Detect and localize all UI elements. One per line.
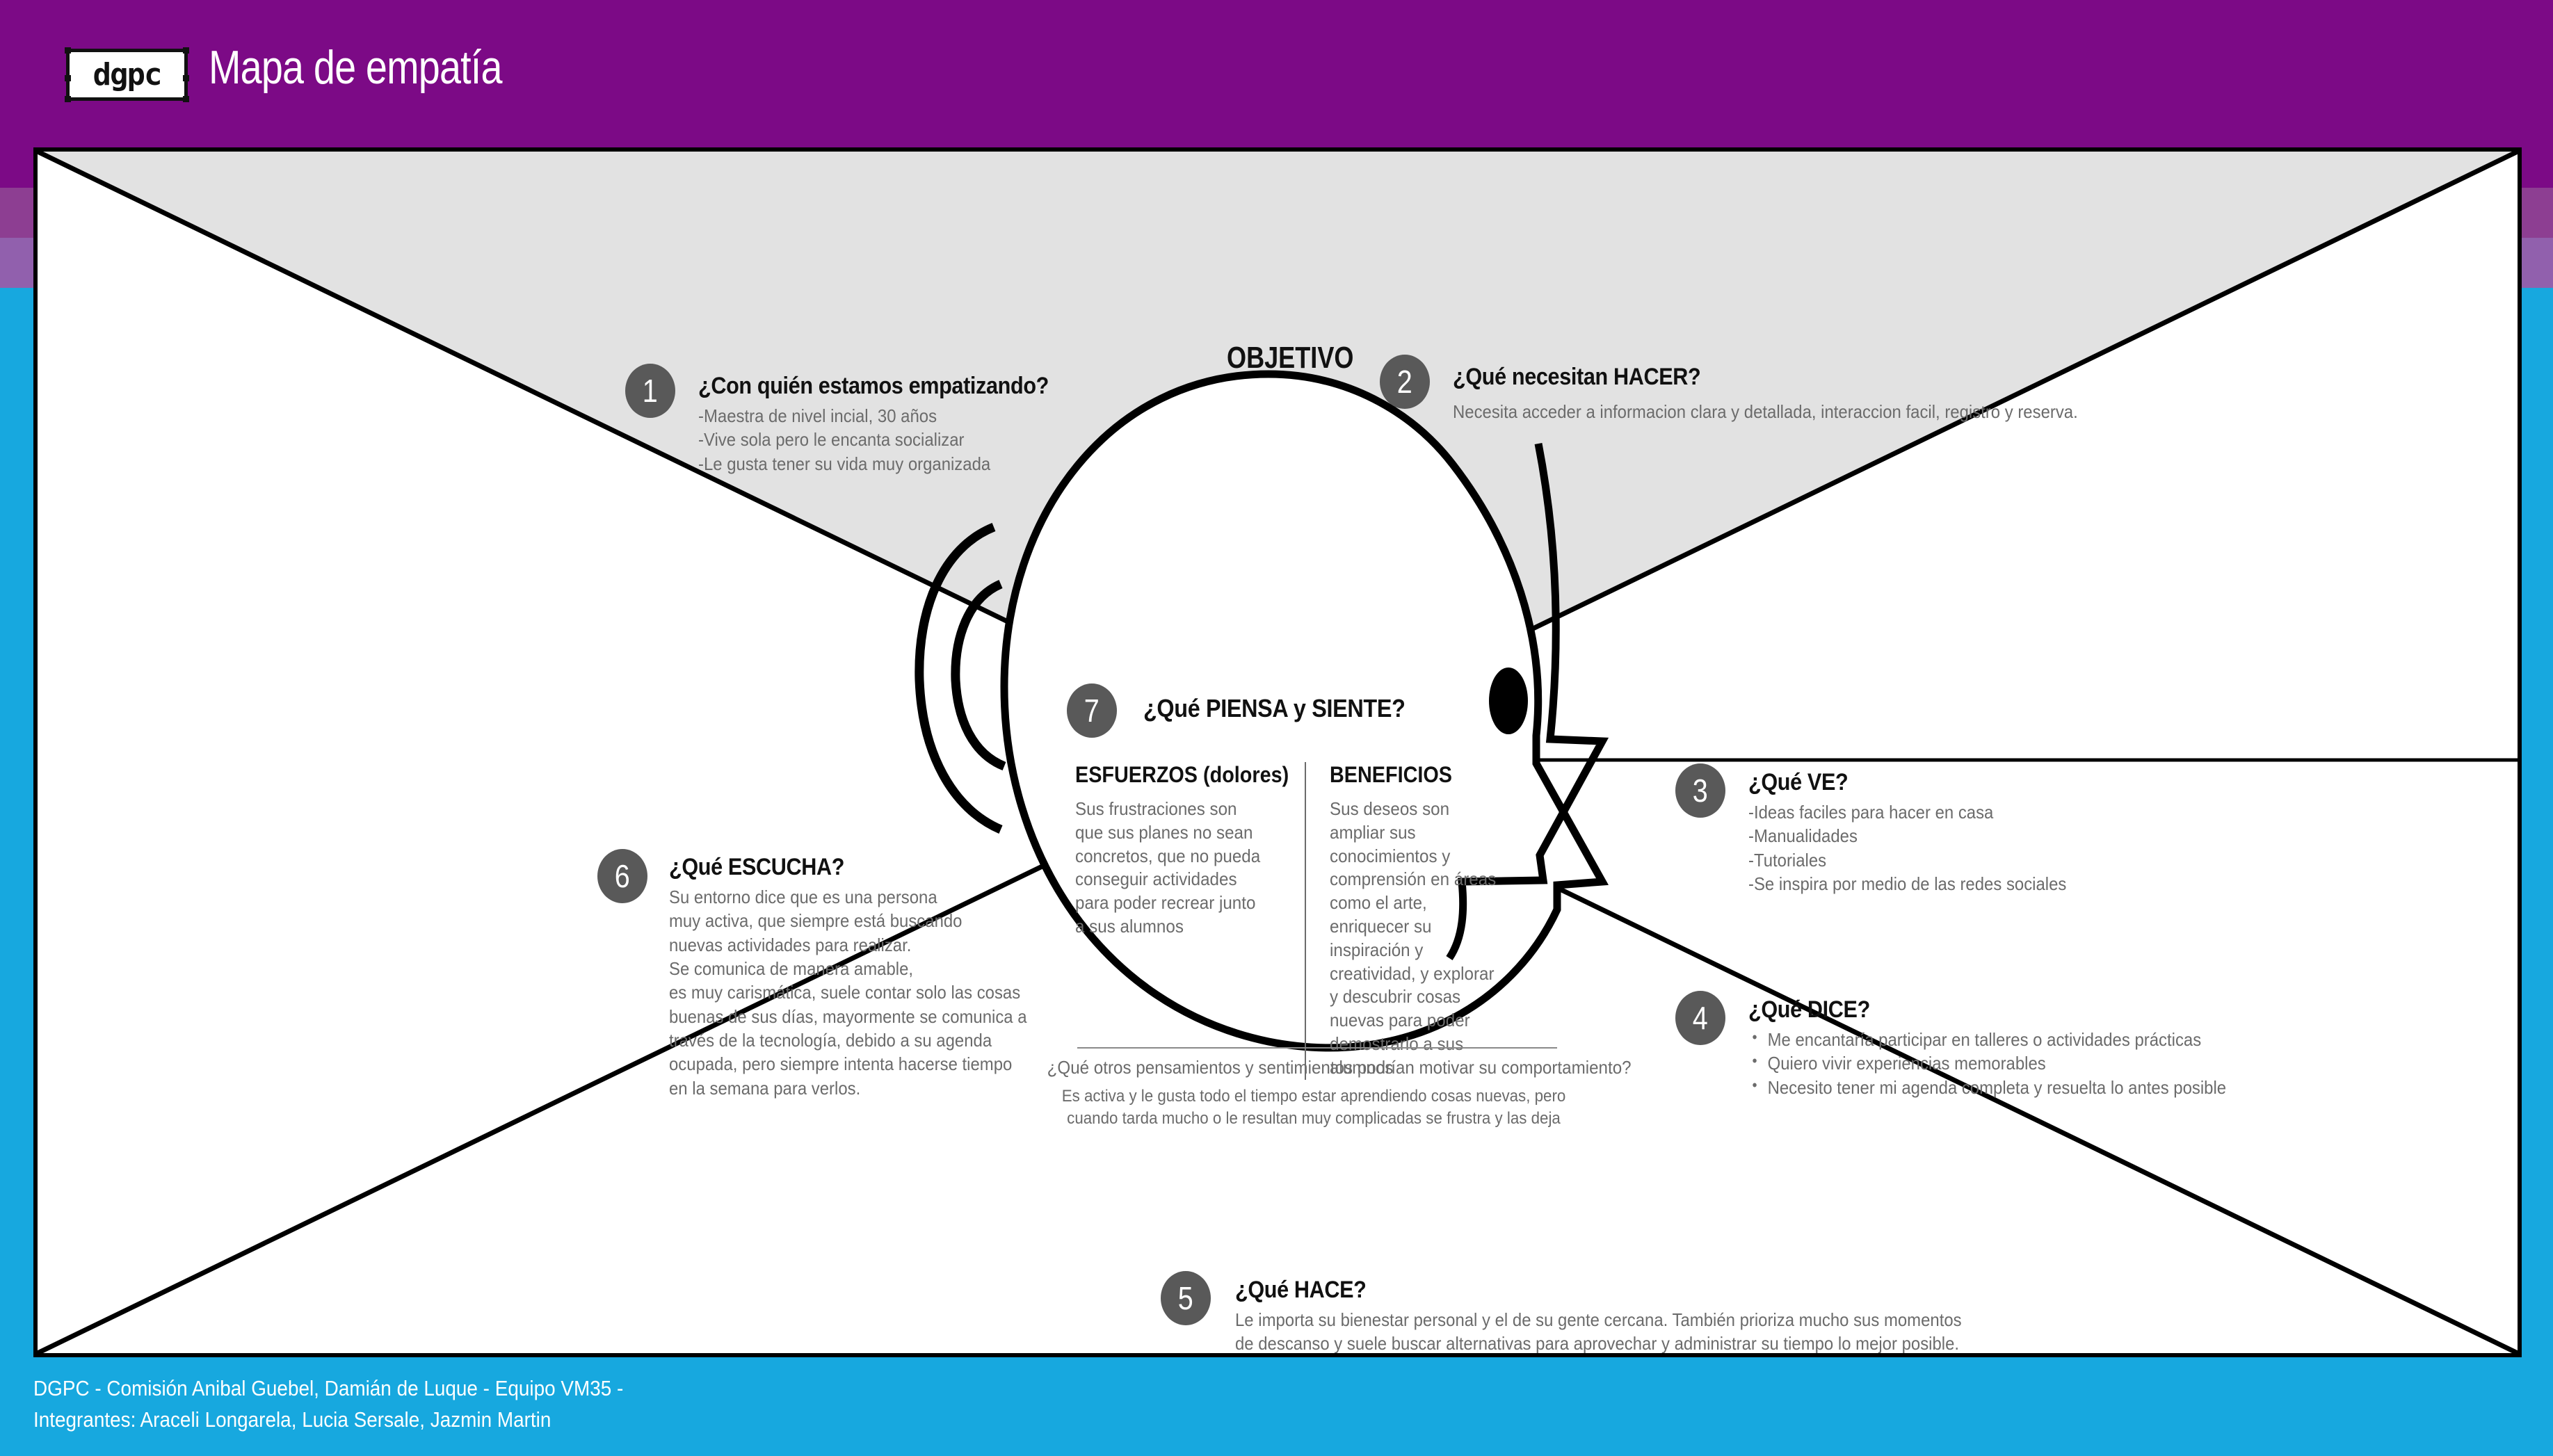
question-6-bubble: 6	[597, 849, 647, 903]
question-2-block: ¿Qué necesitan HACER? Necesita acceder a…	[1453, 364, 2426, 424]
list-item: -Le gusta tener su vida muy organizada	[698, 452, 1184, 476]
question-3-list: -Ideas faciles para hacer en casa -Manua…	[1748, 800, 2374, 896]
question-7-title: ¿Qué PIENSA y SIENTE?	[1143, 694, 1581, 723]
empathy-map-canvas: OBJETIVO 1 ¿Con quién estamos empatizand…	[33, 147, 2522, 1357]
question-6-title: ¿Qué ESCUCHA?	[669, 854, 1057, 881]
list-item: Necesito tener mi agenda completa y resu…	[1748, 1076, 2388, 1099]
question-1-title: ¿Con quién estamos empatizando?	[698, 373, 1174, 400]
question-4-list: Me encantaría participar en talleres o a…	[1748, 1028, 2444, 1099]
question-1-list: -Maestra de nivel incial, 30 años -Vive …	[698, 404, 1227, 476]
list-item: -Vive sola pero le encanta socializar	[698, 428, 1184, 451]
page-header: dgpc Mapa de empatía	[0, 0, 2553, 149]
footer-line-2: Integrantes: Araceli Longarela, Lucia Se…	[33, 1405, 623, 1436]
objetivo-label: OBJETIVO	[1227, 341, 1353, 375]
esfuerzos-heading: ESFUERZOS (dolores)	[1075, 762, 1263, 788]
question-7-footer: ¿Qué otros pensamientos y sentimientos p…	[1025, 1055, 1602, 1131]
question-5-number: 5	[1178, 1282, 1193, 1314]
question-3-bubble: 3	[1675, 763, 1725, 818]
question-7-title-block: ¿Qué PIENSA y SIENTE?	[1143, 694, 1630, 727]
list-item: de descanso y suele buscar alternativas …	[1235, 1332, 2195, 1353]
question-1-number: 1	[643, 375, 658, 407]
list-item: -Se inspira por medio de las redes socia…	[1748, 872, 2324, 896]
beneficios-heading: BENEFICIOS	[1330, 762, 1501, 788]
dgpc-logo: dgpc	[66, 49, 188, 101]
beneficios-column: BENEFICIOS Sus deseos son ampliar sus co…	[1305, 762, 1520, 1080]
list-item: -Tutoriales	[1748, 848, 2324, 872]
question-5-list: Le importa su bienestar personal y el de…	[1235, 1308, 2278, 1353]
question-4-block: ¿Qué DICE? Me encantaría participar en t…	[1748, 996, 2444, 1099]
question-5-bubble: 5	[1161, 1271, 1211, 1325]
list-item: buenas de sus días, mayormente se comuni…	[669, 1005, 1065, 1028]
list-item: en la semana para verlos.	[669, 1076, 1065, 1100]
list-item: Le importa su bienestar personal y el de…	[1235, 1308, 2195, 1332]
page-title: Mapa de empatía	[209, 40, 502, 95]
question-5-title: ¿Qué HACE?	[1235, 1277, 2174, 1304]
list-item: través de la tecnología, debido a su age…	[669, 1028, 1065, 1052]
question-5-block: ¿Qué HACE? Le importa su bienestar perso…	[1235, 1277, 2278, 1353]
question-4-title: ¿Qué DICE?	[1748, 996, 2374, 1024]
question-7-divider	[1077, 1047, 1557, 1049]
question-3-block: ¿Qué VE? -Ideas faciles para hacer en ca…	[1748, 769, 2374, 896]
question-1-bubble: 1	[625, 364, 675, 418]
logo-handle-br	[183, 96, 189, 102]
question-2-number: 2	[1397, 366, 1412, 398]
logo-handle-tr	[183, 47, 189, 54]
esfuerzos-body: Sus frustraciones son que sus planes no …	[1075, 798, 1269, 939]
question-2-bubble: 2	[1380, 355, 1430, 409]
question-7-number: 7	[1084, 695, 1100, 727]
page-footer-credits: DGPC - Comisión Anibal Guebel, Damián de…	[33, 1373, 689, 1436]
footer-answer-line: Es activa y le gusta todo el tiempo esta…	[1045, 1085, 1582, 1108]
question-7-bubble: 7	[1067, 683, 1117, 738]
list-item: Se comunica de manera amable,	[669, 957, 1065, 980]
list-item: Me encantaría participar en talleres o a…	[1748, 1028, 2388, 1051]
dgpc-logo-text: dgpc	[93, 60, 161, 90]
question-3-number: 3	[1693, 775, 1708, 807]
footer-answer-line: cuando tarda mucho o le resultan muy com…	[1045, 1108, 1582, 1130]
list-item: muy activa, que siempre está buscando	[669, 909, 1065, 932]
footer-line-1: DGPC - Comisión Anibal Guebel, Damián de…	[33, 1373, 623, 1405]
empathy-map-page: dgpc Mapa de empatía	[0, 0, 2553, 1456]
empathy-map-lineart	[38, 152, 2518, 1353]
question-6-number: 6	[615, 860, 630, 892]
list-item: -Ideas faciles para hacer en casa	[1748, 800, 2324, 824]
logo-handle-ml	[65, 75, 71, 81]
question-4-bubble: 4	[1675, 991, 1725, 1045]
esfuerzos-column: ESFUERZOS (dolores) Sus frustraciones so…	[1075, 762, 1305, 1080]
beneficios-body: Sus deseos son ampliar sus conocimientos…	[1330, 798, 1507, 1080]
question-2-body: Necesita acceder a informacion clara y d…	[1453, 401, 2349, 424]
logo-handle-tl	[65, 47, 71, 54]
question-3-title: ¿Qué VE?	[1748, 769, 2312, 796]
list-item: es muy carismática, suele contar solo la…	[669, 980, 1065, 1004]
logo-handle-mr	[183, 75, 189, 81]
question-2-title: ¿Qué necesitan HACER?	[1453, 364, 2329, 391]
question-7-footer-question: ¿Qué otros pensamientos y sentimientos p…	[1047, 1055, 1632, 1080]
logo-handle-bl	[65, 96, 71, 102]
list-item: nuevas actividades para realizar.	[669, 933, 1065, 957]
question-7-footer-answer: Es activa y le gusta todo el tiempo esta…	[1025, 1085, 1602, 1131]
list-item: Su entorno dice que es una persona	[669, 885, 1065, 909]
list-item: Quiero vivir experiencias memorables	[1748, 1051, 2388, 1075]
list-item: ocupada, pero siempre intenta hacerse ti…	[669, 1052, 1065, 1076]
list-item: -Maestra de nivel incial, 30 años	[698, 404, 1184, 428]
question-1-block: ¿Con quién estamos empatizando? -Maestra…	[698, 373, 1227, 476]
question-4-number: 4	[1693, 1002, 1708, 1034]
list-item: -Manualidades	[1748, 824, 2324, 848]
